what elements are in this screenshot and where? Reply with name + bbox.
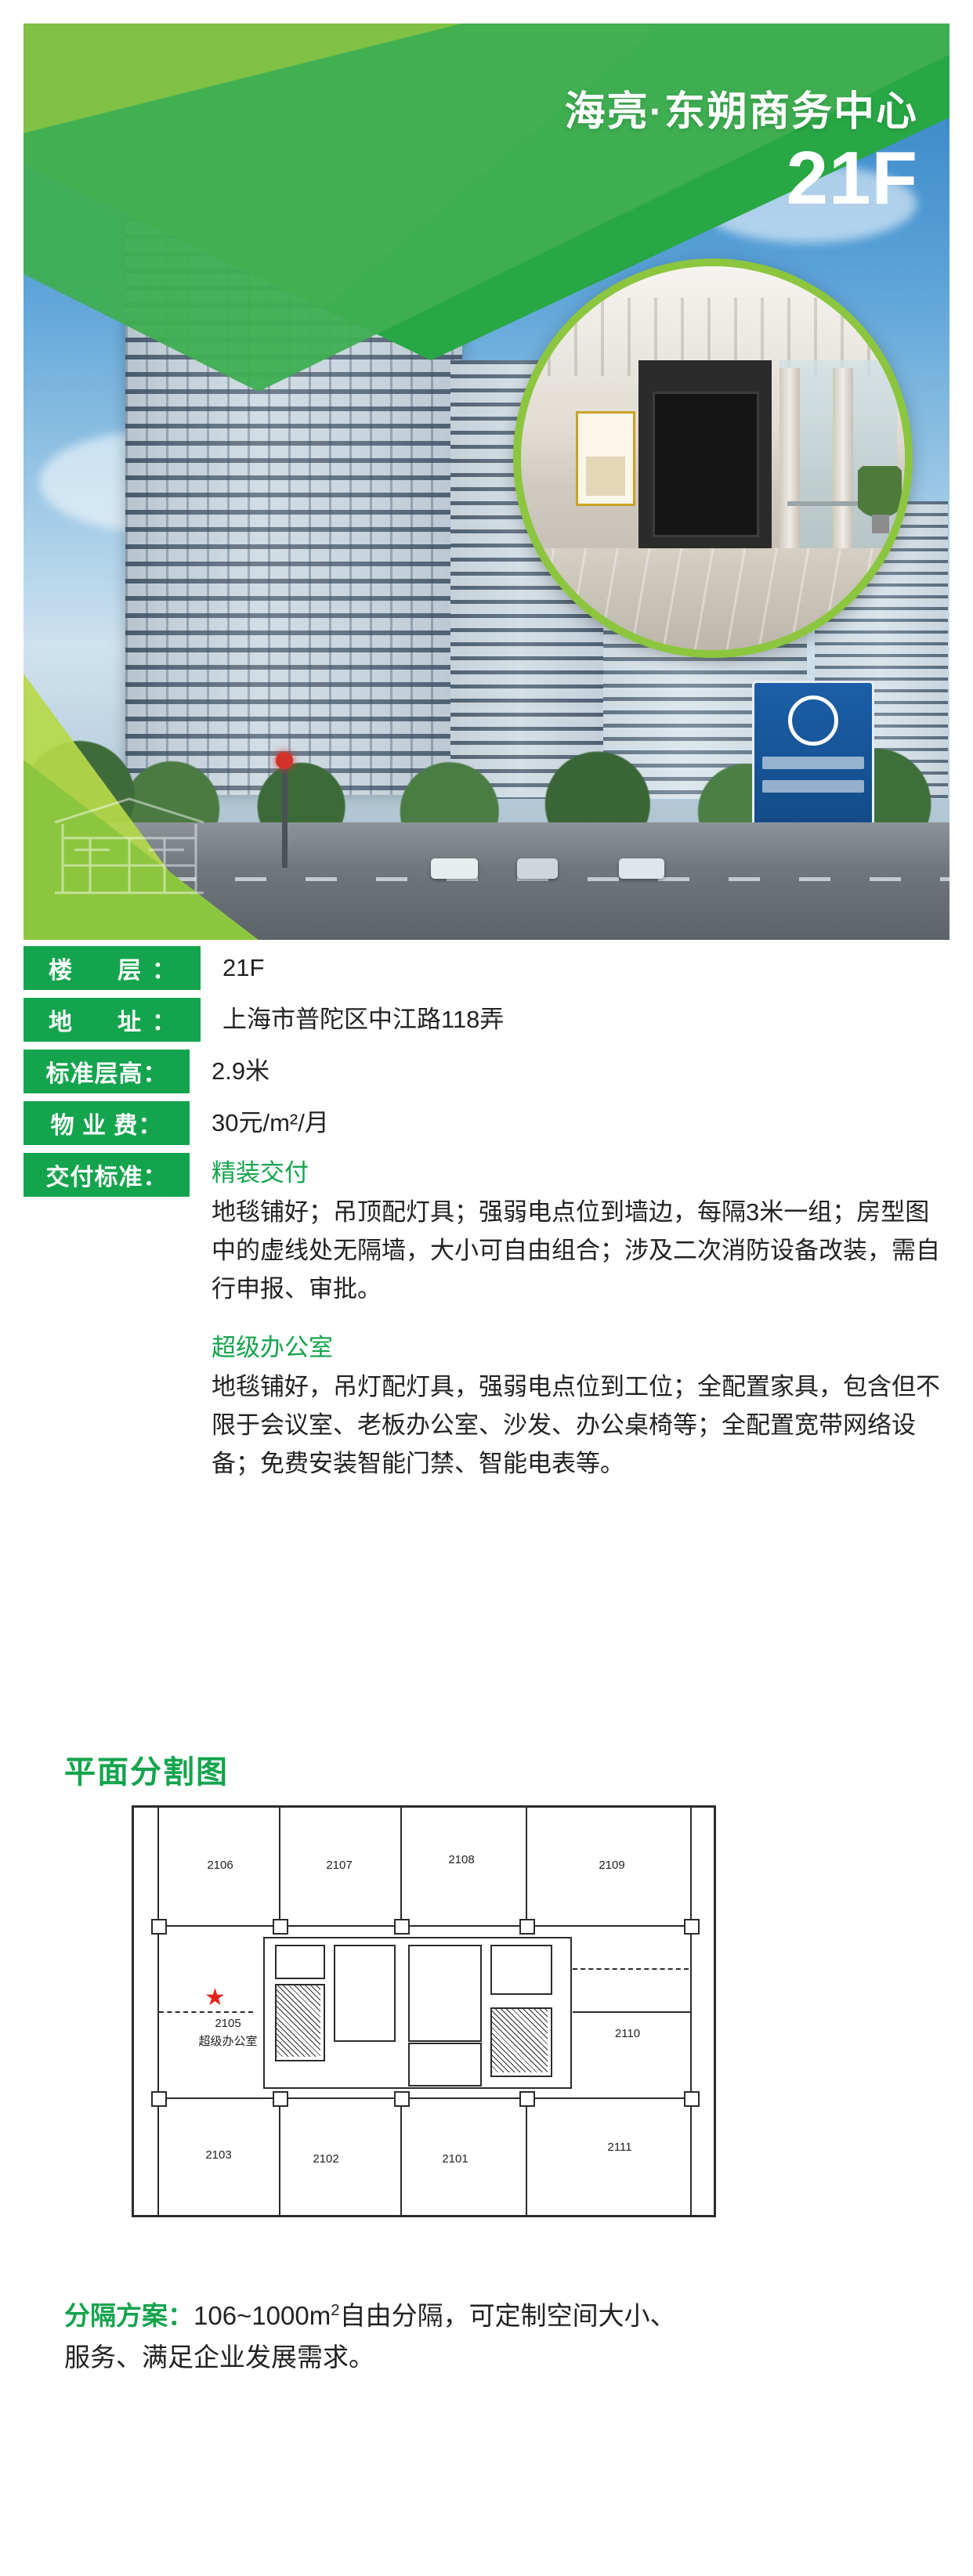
info-label: 交付标准： — [24, 1153, 190, 1197]
footer-key: 分隔方案： — [64, 2301, 194, 2330]
info-label: 楼 层： — [24, 946, 201, 990]
plan-column — [684, 1919, 700, 1935]
sign-logo-icon — [788, 695, 838, 746]
info-value: 21F — [201, 946, 264, 990]
street-signboard — [752, 681, 874, 834]
plan-wall — [400, 1808, 402, 1925]
lobby-pillar — [779, 368, 800, 564]
poster-page: 海亮大厦 海亮·东朔商务中心 21F — [0, 0, 973, 2576]
info-row-floor: 楼 层： 21F — [24, 946, 949, 990]
info-row-address: 地 址： 上海市普陀区中江路118弄 — [24, 998, 949, 1042]
car — [431, 858, 478, 879]
plan-stair-hatch — [492, 2009, 548, 2072]
info-row-property-fee: 物 业 费： 30元/m²/月 — [24, 1101, 949, 1145]
lobby-plant — [858, 466, 902, 532]
plan-column — [394, 1919, 410, 1935]
plan-unit-2105: 2105 超级办公室 — [181, 2015, 275, 2050]
unit-note: 超级办公室 — [181, 2033, 275, 2051]
footer-text-3: 服务、满足企业发展需求。 — [64, 2343, 374, 2372]
plan-wall — [157, 1925, 690, 1927]
info-label: 地 址： — [24, 998, 201, 1042]
floor-plan-inner: ★ 2106 2107 2108 2109 2110 2111 2103 — [134, 1808, 714, 2215]
plan-section-title: 平面分割图 — [64, 1747, 229, 1792]
car — [517, 858, 558, 879]
info-label: 标准层高： — [24, 1050, 190, 1093]
plan-restroom — [408, 2043, 482, 2086]
lobby-poster-stand — [576, 411, 635, 506]
plan-unit-2109: 2109 — [581, 1859, 643, 1872]
plan-shaft — [275, 1945, 325, 1979]
spacer — [212, 1309, 948, 1329]
traffic-light-icon — [282, 766, 288, 868]
plan-column — [273, 2091, 288, 2107]
pagoda-illustration-icon — [47, 791, 212, 901]
plan-wall — [279, 1808, 280, 1925]
info-value: 30元/m²/月 — [190, 1101, 329, 1145]
footer-text-1: 106~1000m — [194, 2301, 331, 2330]
info-value: 上海市普陀区中江路118弄 — [201, 998, 504, 1042]
plan-unit-2101: 2101 — [424, 2152, 486, 2166]
footer-superscript: 2 — [331, 2301, 339, 2319]
info-row-floor-height: 标准层高： 2.9米 — [24, 1050, 949, 1093]
plan-unit-2107: 2107 — [308, 1859, 371, 1872]
plan-column — [519, 2091, 535, 2107]
unit-code: 2101 — [442, 2152, 468, 2166]
plan-column — [519, 1919, 535, 1935]
plan-unit-2108: 2108 — [430, 1853, 493, 1866]
unit-code: 2108 — [448, 1853, 474, 1866]
info-row-delivery-standard: 交付标准： 精装交付 地毯铺好；吊顶配灯具；强弱电点位到墙边，每隔3米一组；房型… — [24, 1153, 949, 1483]
delivery-heading-1: 精装交付 — [212, 1154, 948, 1192]
footer-note: 分隔方案：106~1000m2自由分隔，可定制空间大小、 服务、满足企业发展需求… — [64, 2295, 918, 2379]
plan-shaft — [490, 1945, 552, 1995]
plan-unit-2110: 2110 — [596, 2027, 659, 2040]
plan-flexible-partition — [573, 1968, 689, 1970]
plan-wall — [690, 1808, 692, 2215]
delivery-content: 精装交付 地毯铺好；吊顶配灯具；强弱电点位到墙边，每隔3米一组；房型图中的虚线处… — [190, 1153, 948, 1483]
unit-code: 2106 — [207, 1859, 233, 1872]
plan-wall — [400, 2097, 402, 2215]
highlight-star-icon: ★ — [204, 1986, 226, 2010]
plan-wall — [279, 2097, 280, 2215]
plan-column — [394, 2091, 410, 2107]
unit-code: 2107 — [326, 1859, 352, 1872]
plan-unit-2102: 2102 — [295, 2152, 357, 2166]
unit-code: 2105 — [181, 2015, 275, 2033]
floor-badge: 21F — [787, 141, 918, 216]
lobby-pillar — [833, 368, 853, 564]
unit-code: 2110 — [615, 2027, 640, 2040]
plan-column — [151, 1919, 167, 1935]
unit-code: 2103 — [205, 2148, 231, 2162]
plan-wall — [573, 2011, 690, 2013]
info-table: 楼 层： 21F 地 址： 上海市普陀区中江路118弄 标准层高： 2.9米 物… — [24, 946, 949, 1491]
unit-code: 2102 — [313, 2152, 338, 2166]
page-title: 海亮·东朔商务中心 — [565, 78, 918, 137]
lobby-scene — [521, 266, 905, 650]
delivery-text-2: 地毯铺好，吊灯配灯具，强弱电点位到工位；全配置家具，包含但不限于会议室、老板办公… — [212, 1368, 948, 1483]
lobby-photo — [513, 258, 913, 658]
info-value: 2.9米 — [190, 1050, 269, 1093]
lobby-elevator-core — [638, 360, 772, 556]
hero-banner: 海亮大厦 海亮·东朔商务中心 21F — [24, 23, 949, 940]
unit-code: 2109 — [599, 1859, 624, 1872]
plan-column — [151, 2091, 167, 2107]
plan-unit-2106: 2106 — [189, 1859, 251, 1872]
sign-line — [762, 757, 864, 769]
plan-stair-hatch — [277, 1985, 320, 2057]
plan-unit-2103: 2103 — [187, 2148, 250, 2162]
plan-column — [273, 1919, 288, 1935]
floor-plan-diagram: ★ 2106 2107 2108 2109 2110 2111 2103 — [132, 1805, 716, 2217]
plan-unit-2111: 2111 — [588, 2141, 651, 2154]
plan-flexible-partition — [159, 2011, 253, 2013]
plan-wall — [157, 2097, 690, 2099]
footer-text-2: 自由分隔，可定制空间大小、 — [340, 2301, 676, 2330]
info-label: 物 业 费： — [24, 1101, 190, 1145]
plan-column — [684, 2091, 700, 2107]
lobby-floor — [521, 548, 905, 650]
plan-wall — [526, 2097, 527, 2215]
unit-code: 2111 — [607, 2141, 631, 2154]
car — [619, 858, 664, 879]
plan-wall — [526, 1808, 527, 1925]
plan-elevator-bank-right — [408, 1945, 482, 2042]
delivery-heading-2: 超级办公室 — [212, 1329, 948, 1367]
sign-line — [762, 780, 864, 793]
delivery-text-1: 地毯铺好；吊顶配灯具；强弱电点位到墙边，每隔3米一组；房型图中的虚线处无隔墙，大… — [212, 1194, 948, 1309]
plan-elevator-bank-left — [334, 1945, 396, 2042]
